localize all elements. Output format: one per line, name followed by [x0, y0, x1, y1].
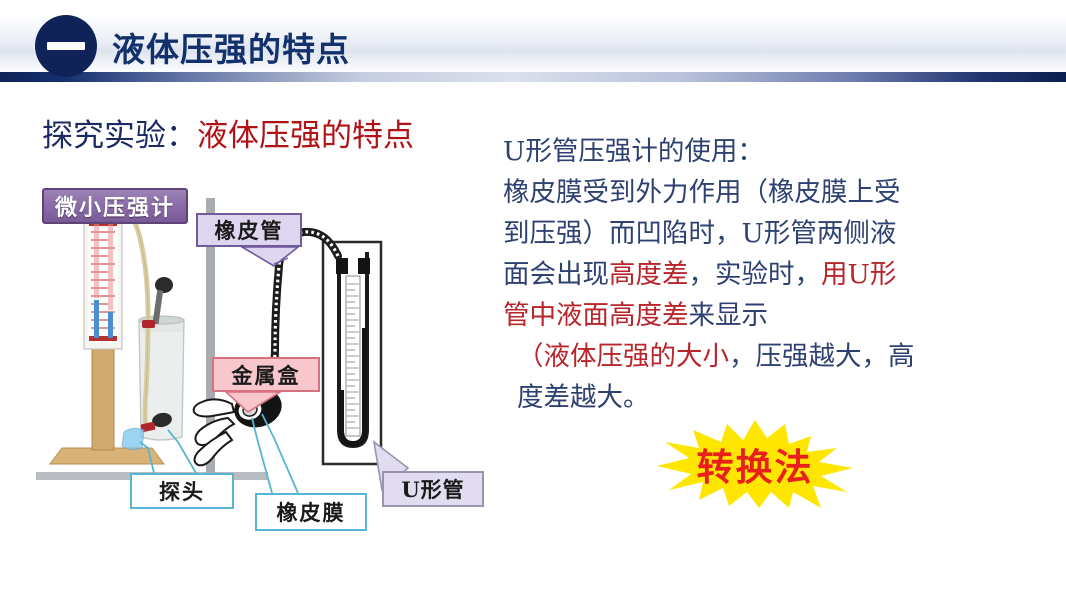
highlighted-text: 管中液面高度差 [503, 300, 689, 331]
section-subtitle: 探究实验：液体压强的特点 [42, 110, 414, 155]
explanation-paragraph: U形管压强计的使用：橡皮膜受到外力作用（橡皮膜上受到压强）而凹陷时，U形管两侧液… [503, 131, 1003, 418]
callout-label: U形管 [382, 471, 484, 507]
circle-dash-icon [35, 15, 97, 77]
callout-label: 橡皮膜 [255, 493, 367, 531]
paragraph-line: 管中液面高度差来显示 [503, 295, 1003, 336]
paragraph-line: 到压强）而凹陷时，U形管两侧液 [503, 213, 1003, 254]
paragraph-line: 面会出现高度差，实验时，用U形 [503, 254, 1003, 295]
callout-label: 橡皮管 [196, 213, 302, 247]
highlighted-text: 高度差 [609, 259, 689, 290]
body-text-run: 面会出现 [503, 259, 609, 290]
body-text-run: 橡皮膜受到外力作用（橡皮膜上受 [503, 177, 901, 208]
callout-metal-box: 金属盒 [212, 357, 320, 392]
starburst-callout: 转换法 [655, 418, 855, 510]
body-text-run: 到压强）而凹陷时，U形管两侧液 [503, 218, 896, 249]
body-text-run: 度差越大。 [517, 382, 650, 413]
page-title: 液体压强的特点 [112, 23, 350, 71]
experiment-figure: 微小压强计 橡皮管 金属盒 探头 橡皮膜 U形管 [36, 180, 496, 545]
highlighted-text: （液体压强的大小 [517, 341, 729, 372]
paragraph-line: 度差越大。 [503, 377, 1003, 418]
callout-rubber-tube: 橡皮管 [196, 213, 302, 247]
header-gradient-rule [0, 72, 1066, 82]
body-text-run: 来显示 [689, 300, 769, 331]
dash-glyph [47, 42, 85, 50]
body-text-run: U形管压强计的使用： [503, 136, 764, 167]
paragraph-line: 橡皮膜受到外力作用（橡皮膜上受 [503, 172, 1003, 213]
starburst-label: 转换法 [655, 418, 855, 510]
body-text-run: ，压强越大，高 [729, 341, 915, 372]
body-text-run: ，实验时， [689, 259, 822, 290]
subtitle-highlight: 液体压强的特点 [197, 118, 414, 154]
callout-label: 金属盒 [212, 357, 320, 392]
paragraph-line: （液体压强的大小，压强越大，高 [503, 336, 1003, 377]
callout-label: 探头 [130, 473, 234, 509]
callout-u-tube: U形管 [382, 471, 484, 507]
highlighted-text: 用U形 [821, 259, 896, 290]
paragraph-line: U形管压强计的使用： [503, 131, 1003, 172]
callout-label: 微小压强计 [42, 188, 188, 224]
callout-probe: 探头 [130, 473, 234, 509]
callout-rubber-membrane: 橡皮膜 [255, 493, 367, 531]
slide-header: 液体压强的特点 [0, 0, 1066, 88]
subtitle-prefix: 探究实验： [42, 118, 197, 154]
callout-micro-pressure-gauge: 微小压强计 [42, 188, 188, 224]
